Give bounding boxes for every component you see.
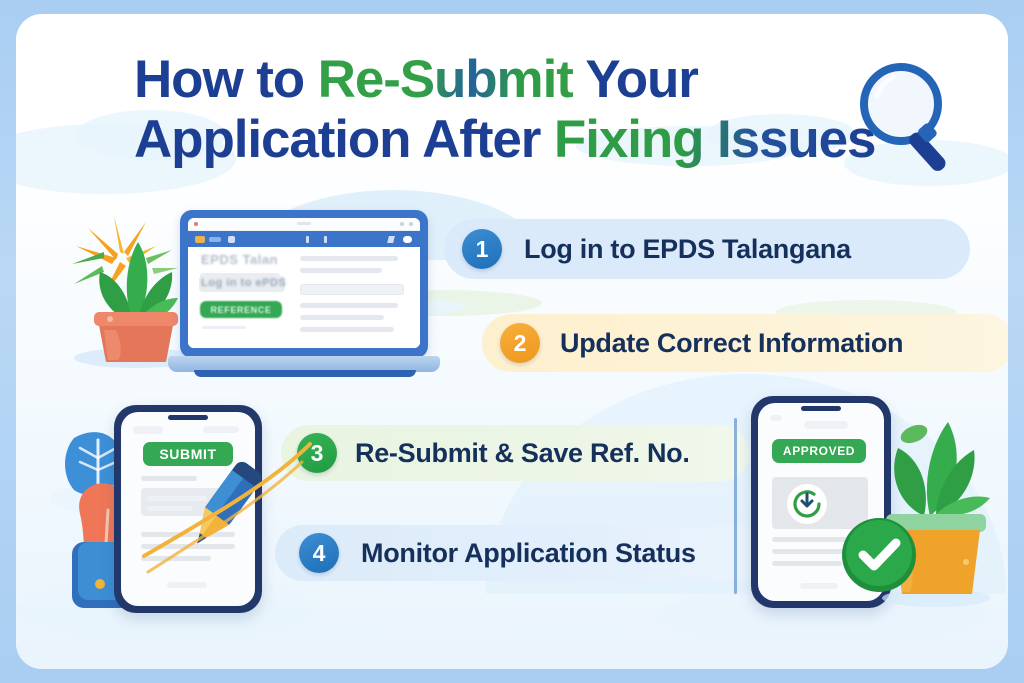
laptop-browser-mockup: EPDS Talan Log in to ePDS REFERENCE xyxy=(168,210,440,382)
phone-notch xyxy=(801,406,841,411)
laptop-blurred-button: REFERENCE xyxy=(200,301,282,318)
laptop-screen: EPDS Talan Log in to ePDS REFERENCE xyxy=(180,210,428,358)
step-label-3: Re-Submit & Save Ref. No. xyxy=(355,438,690,469)
browser-content: EPDS Talan Log in to ePDS REFERENCE xyxy=(188,247,420,348)
phone-skeleton xyxy=(770,415,782,421)
step-number-badge-1: 1 xyxy=(462,229,502,269)
laptop-blurred-subtext: Log in to ePDS xyxy=(201,277,286,289)
title-line-1: How to Re-Submit Your xyxy=(134,50,924,110)
phone-skeleton xyxy=(772,561,842,566)
step-label-4: Monitor Application Status xyxy=(361,538,696,569)
magnifying-glass-icon xyxy=(854,59,964,177)
laptop-skeleton-line xyxy=(300,327,394,332)
title-seg-your: Your xyxy=(573,50,698,109)
page-title: How to Re-Submit Your Application After … xyxy=(134,50,924,170)
phone-skeleton xyxy=(804,421,848,429)
phone-notch xyxy=(168,415,208,420)
step-item-4[interactable]: 4 Monitor Application Status xyxy=(275,525,765,581)
laptop-blurred-heading: EPDS Talan xyxy=(201,252,278,267)
approved-badge: APPROVED xyxy=(772,439,866,463)
title-seg-application-after: Application After xyxy=(134,110,554,169)
green-check-circle-icon xyxy=(840,516,918,594)
clock-refresh-icon xyxy=(786,483,828,525)
laptop-skeleton-line xyxy=(300,315,384,320)
infographic-canvas: How to Re-Submit Your Application After … xyxy=(0,0,1024,683)
title-seg-fixing-issues: Fixing Issues xyxy=(554,110,875,169)
browser-titlebar xyxy=(188,218,420,231)
browser-navbar xyxy=(188,231,420,248)
decorative-swoosh xyxy=(134,434,314,594)
step-item-1[interactable]: 1 Log in to EPDS Talangana xyxy=(444,219,970,279)
infographic-card: How to Re-Submit Your Application After … xyxy=(16,14,1008,669)
title-seg-how-to: How to xyxy=(134,50,318,109)
step-number-badge-2: 2 xyxy=(500,323,540,363)
step-item-2[interactable]: 2 Update Correct Information xyxy=(482,314,1008,372)
laptop-skeleton-line xyxy=(202,326,246,329)
step-label-2: Update Correct Information xyxy=(560,328,903,359)
laptop-skeleton-line xyxy=(300,256,398,261)
browser-window: EPDS Talan Log in to ePDS REFERENCE xyxy=(188,218,420,348)
laptop-skeleton-line xyxy=(300,303,398,308)
title-seg-re-submit: Re-Submit xyxy=(318,50,573,109)
phone-skeleton xyxy=(800,583,838,589)
vertical-accent-line xyxy=(734,418,737,594)
laptop-skeleton-line xyxy=(300,284,404,295)
step-item-3[interactable]: 3 Re-Submit & Save Ref. No. xyxy=(281,425,749,481)
title-line-2: Application After Fixing Issues xyxy=(134,110,924,170)
laptop-foot xyxy=(194,370,416,377)
step-label-1: Log in to EPDS Talangana xyxy=(524,234,851,265)
phone-skeleton xyxy=(133,426,163,434)
laptop-skeleton-line xyxy=(300,268,382,273)
phone-skeleton xyxy=(203,426,239,433)
